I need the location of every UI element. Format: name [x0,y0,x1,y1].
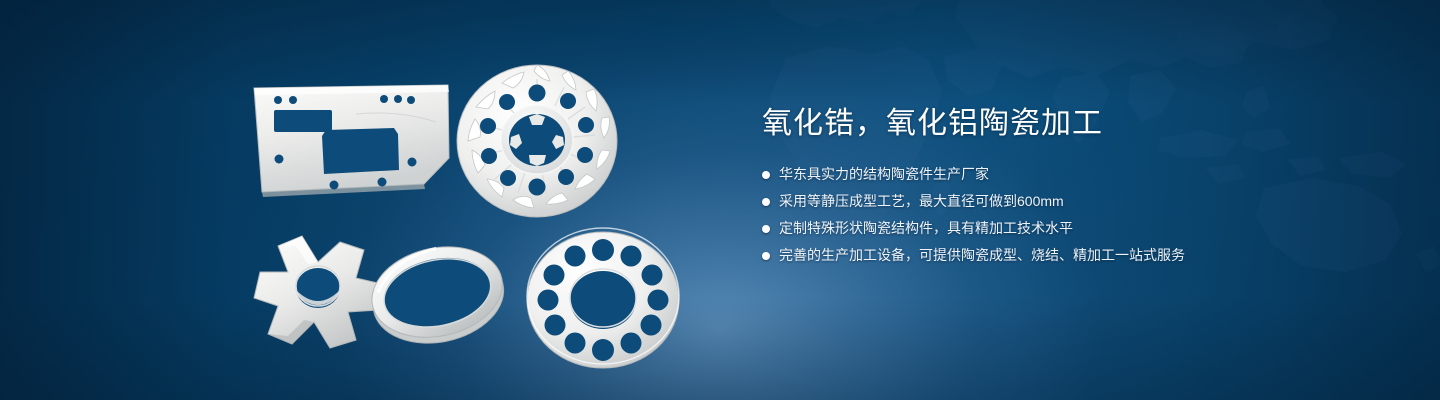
bullet-icon [762,198,770,206]
feature-text: 华东具实力的结构陶瓷件生产厂家 [779,164,989,185]
product-bladed-ceramic-impeller [452,55,622,225]
ceramic-product-banner: 氧化锆，氧化铝陶瓷加工 华东具实力的结构陶瓷件生产厂家 采用等静压成型工艺，最大… [0,0,1440,400]
list-item: 完善的生产加工设备，可提供陶瓷成型、烧结、精加工一站式服务 [762,245,1382,266]
product-ceramic-ring [358,232,518,360]
list-item: 采用等静压成型工艺，最大直径可做到600mm [762,191,1382,212]
banner-copy: 氧化锆，氧化铝陶瓷加工 华东具实力的结构陶瓷件生产厂家 采用等静压成型工艺，最大… [762,104,1382,272]
bullet-icon [762,171,770,179]
page-title: 氧化锆，氧化铝陶瓷加工 [762,104,1382,144]
feature-text: 定制特殊形状陶瓷结构件，具有精加工技术水平 [779,218,1073,239]
feature-text: 采用等静压成型工艺，最大直径可做到600mm [779,191,1064,212]
feature-list: 华东具实力的结构陶瓷件生产厂家 采用等静压成型工艺，最大直径可做到600mm 定… [762,164,1382,266]
bullet-icon [762,225,770,233]
list-item: 定制特殊形状陶瓷结构件，具有精加工技术水平 [762,218,1382,239]
product-machined-ceramic-plate [248,80,454,200]
feature-text: 完善的生产加工设备，可提供陶瓷成型、烧结、精加工一站式服务 [779,245,1185,266]
list-item: 华东具实力的结构陶瓷件生产厂家 [762,164,1382,185]
product-perforated-ceramic-disc [524,226,682,370]
product-photo-group [0,0,740,400]
bullet-icon [762,252,770,260]
